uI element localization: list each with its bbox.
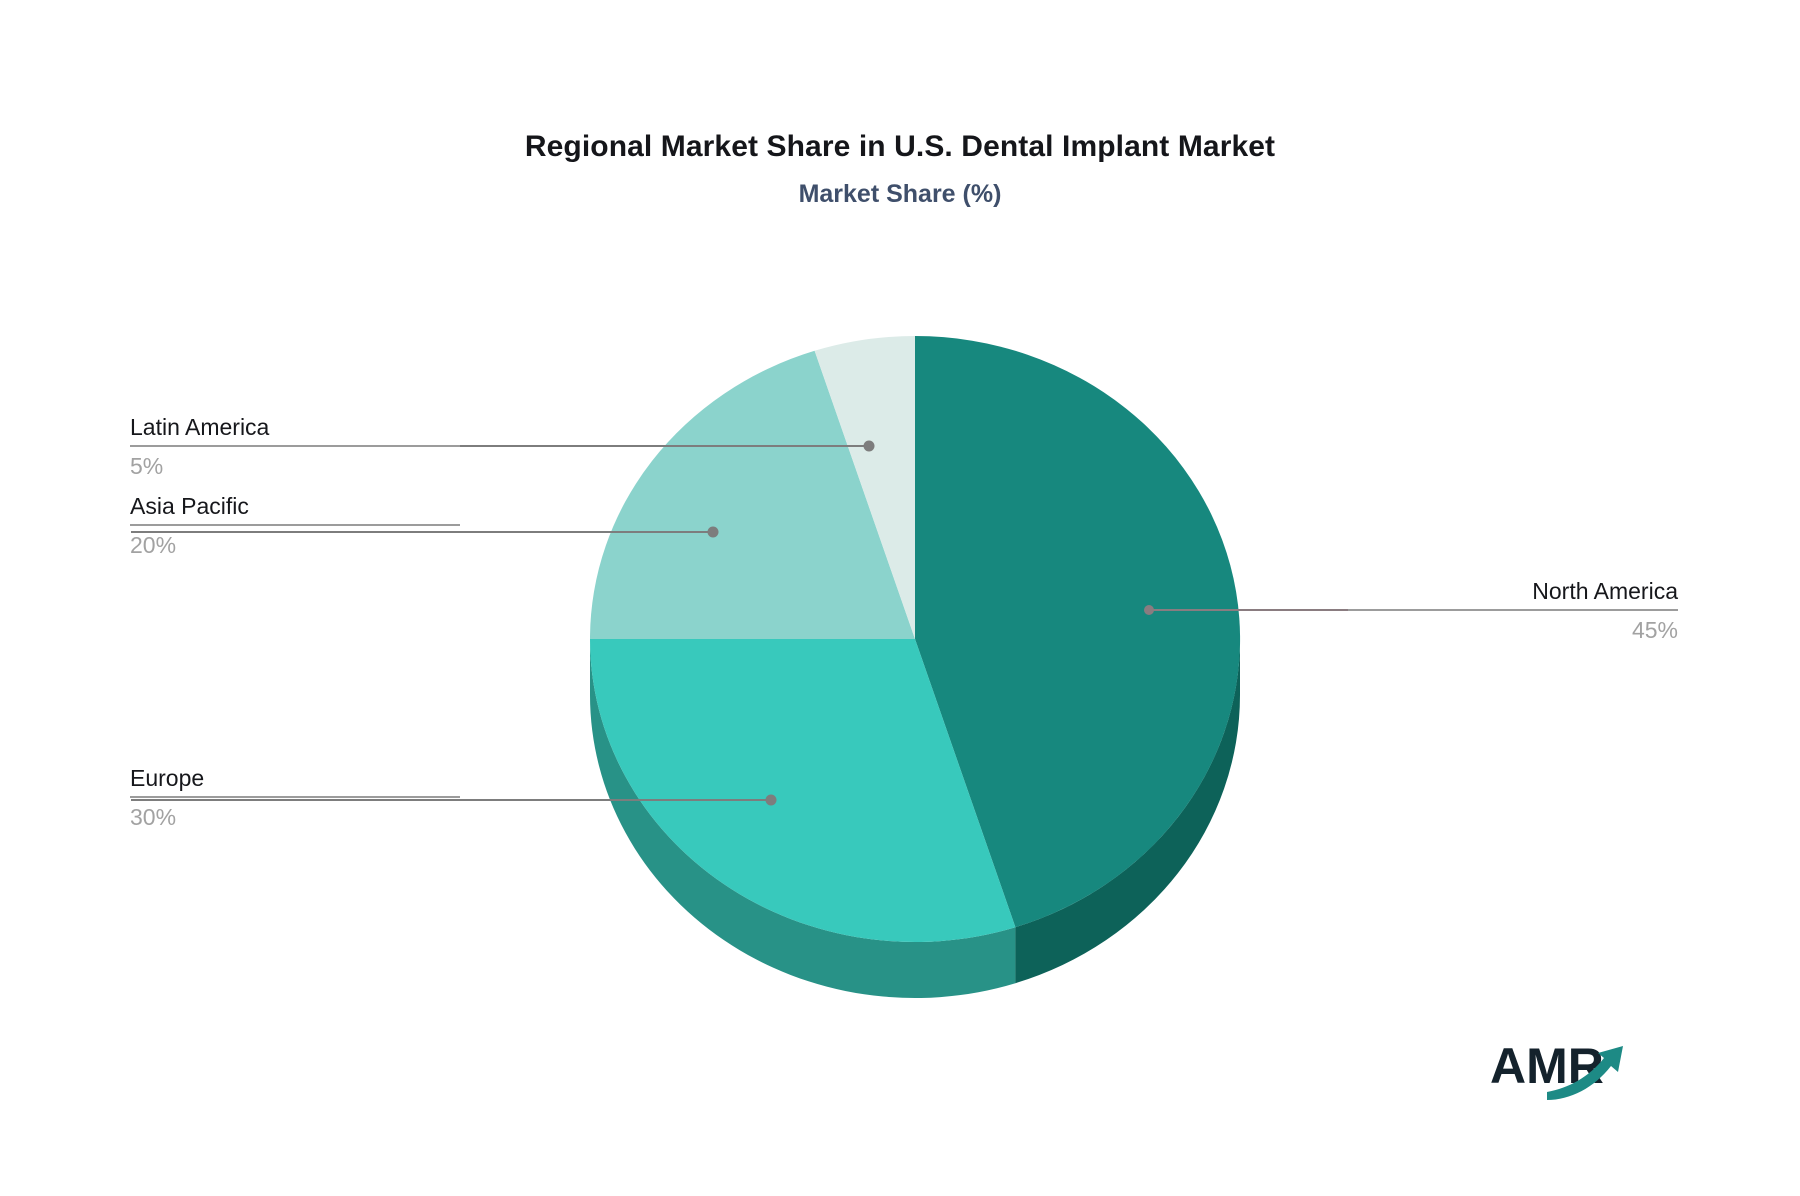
chart-canvas: Regional Market Share in U.S. Dental Imp… (0, 0, 1800, 1196)
callout-latin-america: Latin America 5% (130, 412, 460, 481)
amr-logo: AMR (1490, 1036, 1665, 1108)
callout-label-north-america: North America (1348, 576, 1678, 606)
callout-rule (130, 445, 460, 447)
callout-value-latin-america: 5% (130, 451, 460, 481)
callout-rule (130, 796, 460, 798)
title-block: Regional Market Share in U.S. Dental Imp… (0, 128, 1800, 210)
callout-north-america: North America 45% (1348, 576, 1678, 645)
callout-label-europe: Europe (130, 763, 460, 793)
callout-rule (130, 524, 460, 526)
pie-slice-north-america[interactable] (915, 336, 1240, 927)
page-title: Regional Market Share in U.S. Dental Imp… (0, 128, 1800, 166)
pie-slice-side-europe (590, 639, 1015, 998)
callout-label-latin-america: Latin America (130, 412, 460, 442)
pie-slice-side-north-america (1015, 639, 1240, 983)
callout-value-north-america: 45% (1348, 615, 1678, 645)
callout-rule (1348, 609, 1678, 611)
callout-label-asia-pacific: Asia Pacific (130, 491, 460, 521)
callout-asia-pacific: Asia Pacific 20% (130, 491, 460, 560)
chart-subtitle: Market Share (%) (0, 178, 1800, 210)
pie-slice-asia-pacific[interactable] (590, 351, 915, 639)
callout-value-asia-pacific: 20% (130, 530, 460, 560)
pie-slice-europe[interactable] (590, 639, 1015, 942)
pie-slice-latin-america[interactable] (815, 336, 915, 639)
callout-europe: Europe 30% (130, 763, 460, 832)
callout-value-europe: 30% (130, 802, 460, 832)
